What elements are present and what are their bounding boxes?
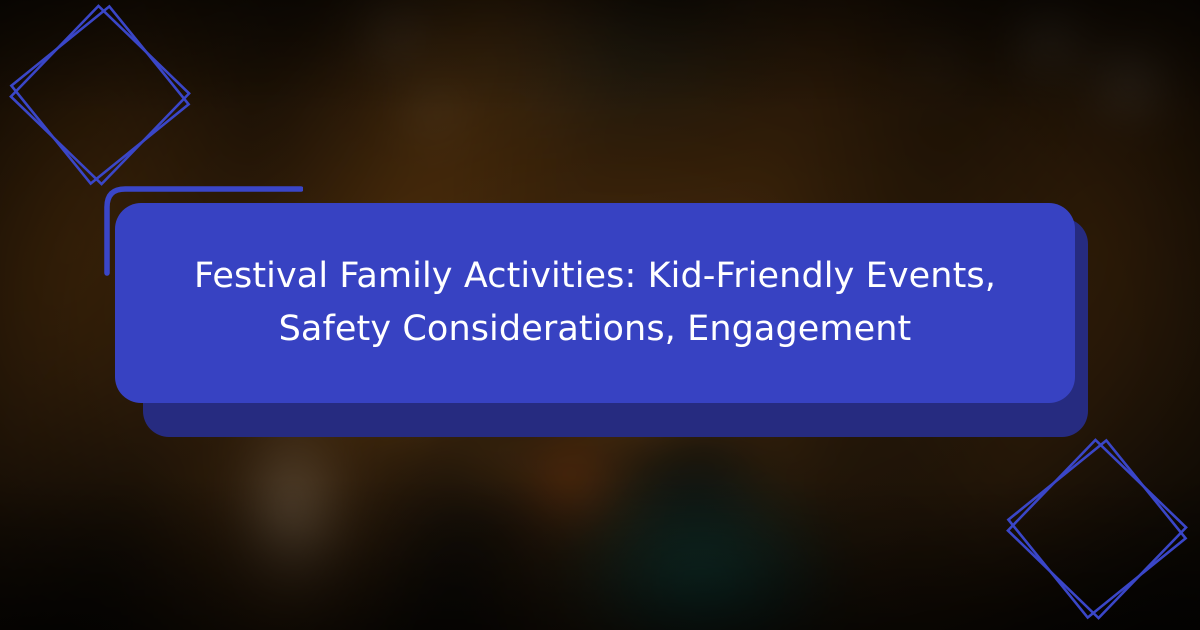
diamond-square-b [11, 6, 188, 183]
social-share-card: Festival Family Activities: Kid-Friendly… [0, 0, 1200, 630]
title-card-content: Festival Family Activities: Kid-Friendly… [115, 203, 1075, 403]
diamond-square-b [1008, 440, 1185, 617]
diamond-square-a [1008, 440, 1186, 618]
diamond-outline-pair-top-left [0, 0, 222, 210]
diamond-square-a [11, 6, 189, 184]
diamond-outline-pair-bottom-right [996, 432, 1200, 630]
title-card: Festival Family Activities: Kid-Friendly… [115, 203, 1075, 403]
page-title: Festival Family Activities: Kid-Friendly… [194, 250, 996, 356]
